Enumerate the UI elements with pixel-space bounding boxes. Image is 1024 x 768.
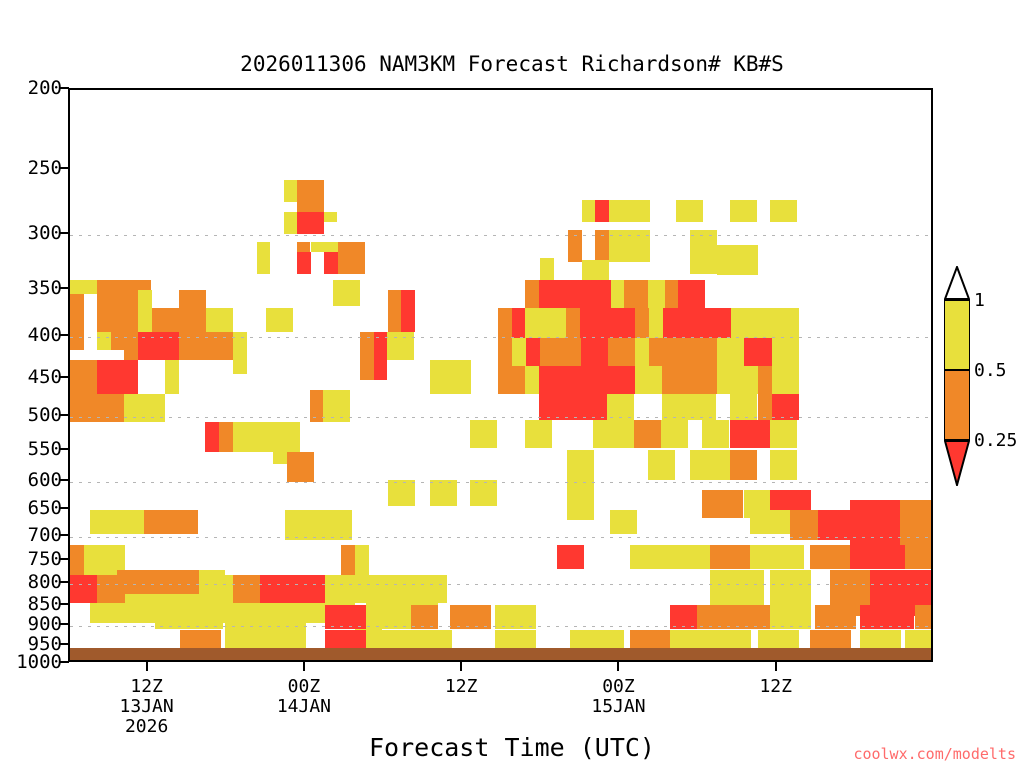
y-axis-tick-label: 250 [4, 159, 62, 178]
heatmap-cell [179, 332, 233, 360]
heatmap-cell [593, 420, 634, 448]
x-axis-tick-label: 00Z14JAN [244, 677, 364, 717]
heatmap-cell [931, 570, 933, 616]
heatmap-plot-area [68, 88, 933, 662]
y-axis-tick-label: 900 [4, 615, 62, 634]
y-axis-tick-label: 850 [4, 595, 62, 614]
x-axis-tick-label: 12Z13JAN2026 [87, 677, 207, 737]
y-axis-tick-label: 600 [4, 471, 62, 490]
heatmap-cell [610, 510, 637, 534]
x-axis-tick [775, 662, 777, 671]
heatmap-cell [670, 605, 697, 629]
heatmap-cell [607, 394, 634, 420]
heatmap-cell [124, 394, 165, 422]
heatmap-cell [323, 390, 350, 422]
heatmap-cell [730, 450, 757, 480]
heatmap-cell [772, 366, 799, 394]
heatmap-cell [70, 575, 97, 603]
heatmap-cell [297, 242, 310, 252]
heatmap-cell [333, 280, 360, 306]
heatmap-cell [370, 605, 411, 629]
heatmap-cell [70, 332, 84, 350]
heatmap-cell [257, 242, 270, 274]
y-axis-tick-label: 1000 [4, 653, 62, 672]
heatmap-cell [374, 332, 387, 380]
y-axis-tick-label: 200 [4, 79, 62, 98]
heatmap-cell [70, 294, 84, 332]
heatmap-cell [297, 252, 311, 274]
colorbar-segment [944, 370, 970, 440]
heatmap-cell [297, 180, 324, 202]
heatmap-cell [325, 575, 366, 603]
heatmap-cell [730, 200, 757, 222]
heatmap-cell [311, 242, 338, 252]
heatmap-cell [70, 280, 97, 294]
heatmap-cell [608, 366, 635, 394]
heatmap-cell [689, 394, 716, 420]
heatmap-cell [225, 603, 252, 623]
heatmap-cell [70, 545, 84, 575]
heatmap-cell [152, 308, 179, 332]
heatmap-cell [730, 420, 771, 448]
heatmap-cell [355, 545, 369, 575]
heatmap-cell [750, 545, 804, 569]
heatmap-cell [444, 360, 471, 394]
heatmap-cell [495, 605, 536, 629]
heatmap-cell [117, 570, 158, 594]
heatmap-cell [198, 570, 225, 594]
heatmap-cell [310, 390, 323, 422]
y-axis-tick-label: 300 [4, 224, 62, 243]
heatmap-cell [512, 338, 526, 366]
heatmap-cell [450, 605, 491, 629]
heatmap-cell [388, 480, 415, 506]
y-axis-tick-label: 650 [4, 499, 62, 518]
x-axis-tick-label: 12Z [716, 677, 836, 697]
heatmap-cell [179, 290, 206, 332]
heatmap-cell [661, 420, 688, 448]
x-tick-date: 13JAN [87, 697, 207, 717]
heatmap-cell [730, 394, 757, 420]
heatmap-cell [284, 180, 297, 202]
y-axis-tick-label: 350 [4, 279, 62, 298]
heatmap-cell [690, 230, 717, 274]
heatmap-cell [525, 308, 566, 338]
heatmap-cell [770, 605, 811, 629]
heatmap-cell [648, 450, 675, 480]
heatmap-cell [772, 338, 799, 366]
heatmap-cell [815, 605, 856, 629]
heatmap-cell [401, 290, 415, 332]
heatmap-cell [595, 200, 609, 222]
x-axis-tick [617, 662, 619, 671]
y-axis-tick-label: 450 [4, 368, 62, 387]
colorbar: 10.50.25 [944, 300, 970, 440]
colorbar-tick-label: 0.25 [974, 432, 1017, 450]
heatmap-cell [525, 420, 552, 448]
heatmap-cell [635, 366, 662, 394]
heatmap-cell [624, 280, 651, 310]
chart-canvas: 2026011306 NAM3KM Forecast Richardson# K… [0, 0, 1024, 768]
heatmap-cell [90, 510, 144, 534]
heatmap-cell [634, 420, 661, 448]
heatmap-cell [915, 605, 933, 629]
colorbar-segment [944, 300, 970, 370]
x-tick-time: 12Z [716, 677, 836, 697]
heatmap-cell [609, 200, 650, 222]
x-axis-tick-label: 12Z [401, 677, 521, 697]
colorbar-tick-label: 1 [974, 292, 985, 310]
y-axis-tick-label: 750 [4, 550, 62, 569]
colorbar-arrow-down [944, 440, 970, 486]
colorbar-arrow-up-outline [944, 266, 970, 300]
heatmap-cell [609, 230, 650, 262]
heatmap-cell [430, 480, 457, 506]
heatmap-cell [770, 200, 797, 222]
heatmap-cell [710, 545, 751, 569]
chart-title: 2026011306 NAM3KM Forecast Richardson# K… [0, 52, 1024, 76]
heatmap-cell [284, 212, 297, 234]
y-axis-tick-label: 800 [4, 573, 62, 592]
heatmap-cell [931, 500, 933, 556]
x-tick-time: 12Z [87, 677, 207, 697]
heatmap-cell [649, 338, 676, 366]
y-axis-tick-label: 500 [4, 406, 62, 425]
x-tick-date: 14JAN [244, 697, 364, 717]
y-axis-tick-label: 400 [4, 326, 62, 345]
heatmap-cell [233, 332, 247, 374]
heatmap-cell [670, 545, 711, 569]
heatmap-cell [557, 545, 584, 569]
heatmap-cell [702, 490, 743, 518]
heatmap-cell [233, 422, 274, 452]
heatmap-cell [144, 510, 198, 534]
x-axis-tick-label: 00Z15JAN [558, 677, 678, 717]
heatmap-cell [97, 332, 111, 350]
heatmap-cell [662, 394, 689, 420]
heatmap-cell [931, 545, 933, 569]
x-tick-time: 00Z [244, 677, 364, 697]
heatmap-cell [702, 420, 729, 448]
heatmap-cell [678, 280, 705, 310]
watermark: coolwx.com/modelts [853, 745, 1016, 763]
heatmap-cell [70, 360, 97, 394]
heatmap-cell [97, 360, 138, 394]
heatmap-cell [297, 202, 324, 212]
y-axis-tick-label: 700 [4, 526, 62, 545]
heatmap-cell [70, 394, 124, 422]
heatmap-cell [717, 366, 758, 394]
heatmap-cell [905, 545, 933, 569]
heatmap-cell [138, 332, 179, 360]
y-axis-tick-label: 550 [4, 440, 62, 459]
heatmap-cell [233, 575, 260, 603]
heatmap-cell [567, 480, 594, 520]
heatmap-cell [138, 290, 152, 332]
x-axis-tick [303, 662, 305, 671]
heatmap-cell [539, 394, 607, 420]
heatmap-cell [498, 366, 525, 394]
heatmap-cell [325, 510, 352, 540]
heatmap-cell [676, 200, 703, 222]
heatmap-cell [470, 420, 497, 448]
heatmap-cell [690, 450, 731, 480]
heatmap-cell [697, 605, 778, 629]
x-tick-time: 12Z [401, 677, 521, 697]
heatmap-cell [324, 252, 338, 274]
heatmap-cell [411, 605, 438, 629]
heatmap-cell [568, 230, 582, 262]
heatmap-cell [430, 360, 444, 394]
x-axis-tick [146, 662, 148, 671]
heatmap-cell [338, 242, 365, 274]
heatmap-cell [297, 212, 324, 234]
heatmap-cells [70, 90, 931, 660]
colorbar-tick-label: 0.5 [974, 362, 1007, 380]
x-tick-time: 00Z [558, 677, 678, 697]
heatmap-cell [595, 230, 609, 262]
heatmap-cell [540, 338, 581, 366]
terrain-band [70, 648, 931, 660]
heatmap-cell [158, 570, 199, 594]
heatmap-cell [325, 605, 366, 629]
heatmap-cell [770, 420, 797, 448]
heatmap-cell [324, 212, 337, 222]
heatmap-cell [772, 308, 799, 338]
heatmap-cell [155, 605, 223, 629]
heatmap-cell [630, 545, 671, 569]
heatmap-cell [266, 308, 293, 332]
heatmap-cell [860, 605, 914, 629]
heatmap-cell [770, 450, 797, 480]
x-tick-date: 15JAN [558, 697, 678, 717]
heatmap-cell [717, 245, 758, 275]
heatmap-cell [165, 360, 179, 394]
heatmap-cell [387, 332, 414, 360]
x-axis-tick [460, 662, 462, 671]
heatmap-cell [772, 394, 799, 420]
heatmap-cell [206, 308, 233, 332]
heatmap-cell [287, 452, 314, 482]
heatmap-cell [621, 308, 635, 338]
heatmap-cell [470, 480, 497, 506]
